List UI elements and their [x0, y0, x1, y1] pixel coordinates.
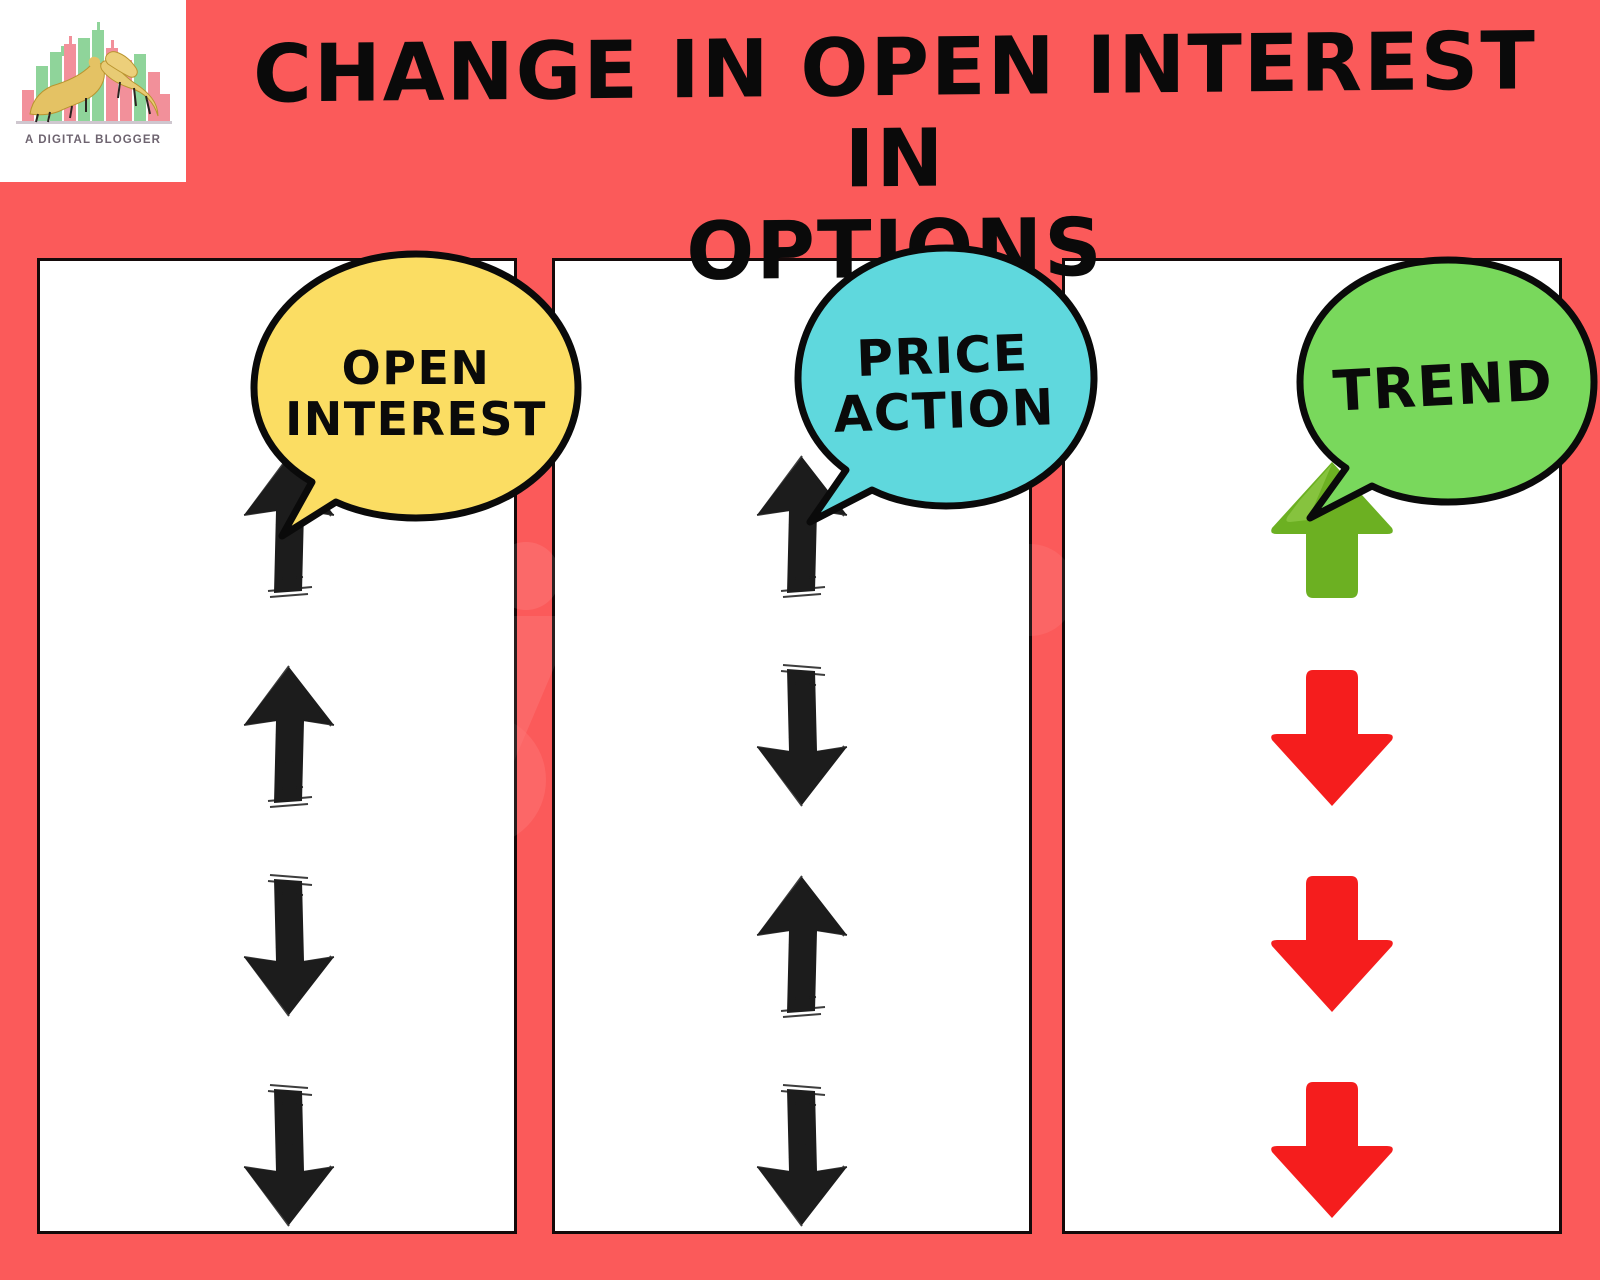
arrow-list-open-interest	[40, 451, 526, 1231]
page-title-line-1: Change in Open Interest in	[210, 15, 1580, 212]
bull-bear-chart-logo-icon	[8, 18, 178, 130]
arrow-down-sketch-icon	[230, 1081, 348, 1231]
arrow-down-sketch-icon	[743, 1081, 861, 1231]
arrow-up-sketch-icon	[230, 661, 348, 811]
brand-logo: A DIGITAL BLOGGER	[0, 0, 186, 182]
speech-bubble-price-action[interactable]: Price Action	[788, 240, 1100, 528]
arrow-down-solid-icon	[1266, 868, 1398, 1018]
arrow-list-trend	[1065, 456, 1579, 1224]
speech-bubble-trend[interactable]: Trend	[1288, 252, 1600, 522]
arrow-list-price-action	[555, 451, 1039, 1231]
arrow-down-sketch-icon	[743, 661, 861, 811]
arrow-down-sketch-icon	[230, 871, 348, 1021]
arrow-down-solid-icon	[1266, 662, 1398, 812]
arrow-down-solid-icon	[1266, 1074, 1398, 1224]
logo-caption: A DIGITAL BLOGGER	[0, 134, 186, 146]
speech-bubble-open-interest[interactable]: Open Interest	[246, 246, 586, 541]
arrow-up-sketch-icon	[743, 871, 861, 1021]
infographic-poster: A DIGITAL BLOGGER Change in Open Interes…	[0, 0, 1600, 1280]
